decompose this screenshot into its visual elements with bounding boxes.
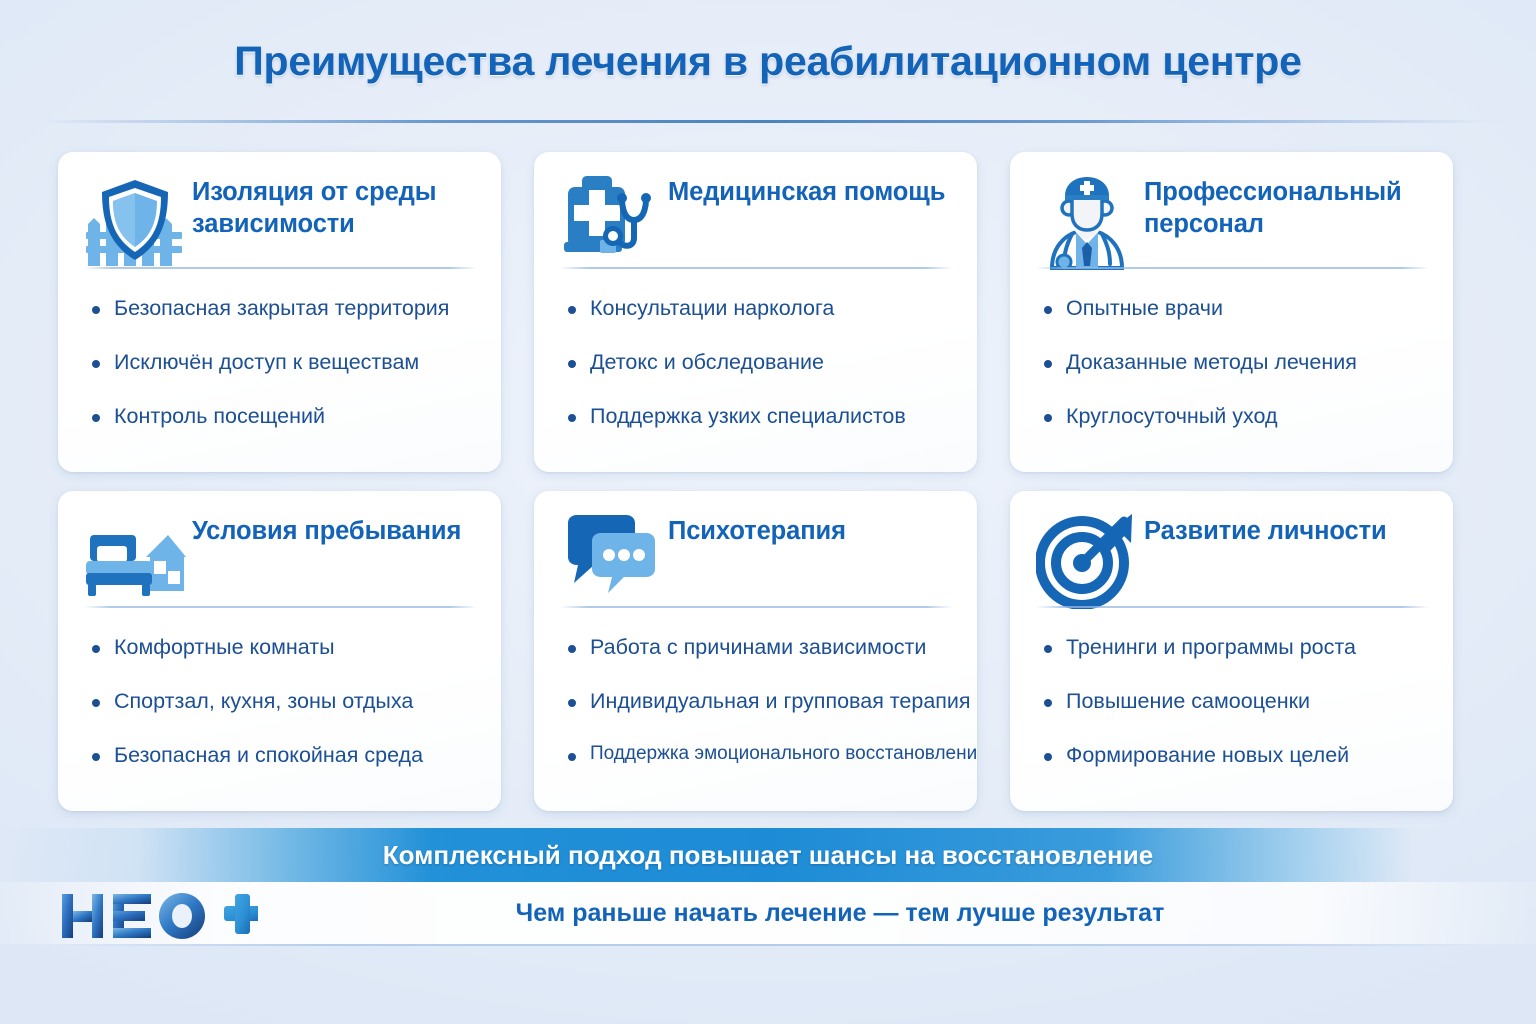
benefit-card-isolation[interactable]: Изоляция от среды зависимости Безопасная… [58,152,501,472]
card-divider [560,267,953,269]
page-title: Преимущества лечения в реабилитационном … [0,38,1536,85]
card-header: Профессиональный персонал [1010,152,1453,272]
list-item: Опытные врачи [1036,295,1435,322]
list-item: Безопасная закрытая территория [84,295,483,322]
footer-divider [60,944,1476,946]
neo-plus-logo-icon [58,886,258,944]
list-item: Безопасная и спокойная среда [84,742,483,769]
card-title: Профессиональный персонал [1144,176,1434,241]
card-divider [84,606,477,608]
target-arrow-icon [1036,513,1138,609]
brand-logo[interactable] [58,886,258,944]
card-title: Психотерапия [668,515,958,547]
header: Преимущества лечения в реабилитационном … [0,0,1536,122]
bed-house-icon [84,513,186,609]
list-item: Доказанные методы лечения [1036,349,1435,376]
card-bullet-list: Комфортные комнаты Спортзал, кухня, зоны… [84,634,483,796]
list-item: Комфортные комнаты [84,634,483,661]
card-header: Медицинская помощь [534,152,977,272]
list-item: Поддержка эмоционального восстановления [560,742,959,766]
list-item: Повышение самооценки [1036,688,1435,715]
list-item: Контроль посещений [84,403,483,430]
card-divider [560,606,953,608]
card-bullet-list: Консультации нарколога Детокс и обследов… [560,295,959,457]
doctor-icon [1036,174,1138,270]
card-title: Развитие личности [1144,515,1434,547]
card-bullet-list: Тренинги и программы роста Повышение сам… [1036,634,1435,796]
card-bullet-list: Опытные врачи Доказанные методы лечения … [1036,295,1435,457]
benefit-card-professional-staff[interactable]: Профессиональный персонал Опытные врачи … [1010,152,1453,472]
card-title: Условия пребывания [192,515,482,547]
card-bullet-list: Безопасная закрытая территория Исключён … [84,295,483,457]
list-item: Круглосуточный уход [1036,403,1435,430]
shield-fence-icon [84,174,186,270]
medical-kit-stethoscope-icon [560,174,662,270]
card-header: Психотерапия [534,491,977,611]
benefits-grid: Изоляция от среды зависимости Безопасная… [58,152,1478,811]
card-header: Условия пребывания [58,491,501,611]
list-item: Исключён доступ к веществам [84,349,483,376]
benefit-card-living-conditions[interactable]: Условия пребывания Комфортные комнаты Сп… [58,491,501,811]
summary-banner: Комплексный подход повышает шансы на вос… [0,828,1536,882]
header-divider [40,120,1496,123]
benefit-card-psychotherapy[interactable]: Психотерапия Работа с причинами зависимо… [534,491,977,811]
list-item: Формирование новых целей [1036,742,1435,769]
benefit-card-personal-growth[interactable]: Развитие личности Тренинги и программы р… [1010,491,1453,811]
list-item: Консультации нарколога [560,295,959,322]
list-item: Работа с причинами зависимости [560,634,959,661]
card-title: Медицинская помощь [668,176,958,208]
benefit-card-medical-help[interactable]: Медицинская помощь Консультации нарколог… [534,152,977,472]
card-divider [84,267,477,269]
card-header: Развитие личности [1010,491,1453,611]
list-item: Индивидуальная и групповая терапия [560,688,959,715]
list-item: Тренинги и программы роста [1036,634,1435,661]
list-item: Детокс и обследование [560,349,959,376]
card-title: Изоляция от среды зависимости [192,176,482,241]
card-divider [1036,606,1429,608]
summary-banner-text: Комплексный подход повышает шансы на вос… [0,828,1536,882]
list-item: Спортзал, кухня, зоны отдыха [84,688,483,715]
speech-bubbles-icon [560,513,662,609]
footer-tagline: Чем раньше начать лечение — тем лучше ре… [290,882,1390,944]
card-header: Изоляция от среды зависимости [58,152,501,272]
card-bullet-list: Работа с причинами зависимости Индивидуа… [560,634,959,793]
list-item: Поддержка узких специалистов [560,403,959,430]
card-divider [1036,267,1429,269]
